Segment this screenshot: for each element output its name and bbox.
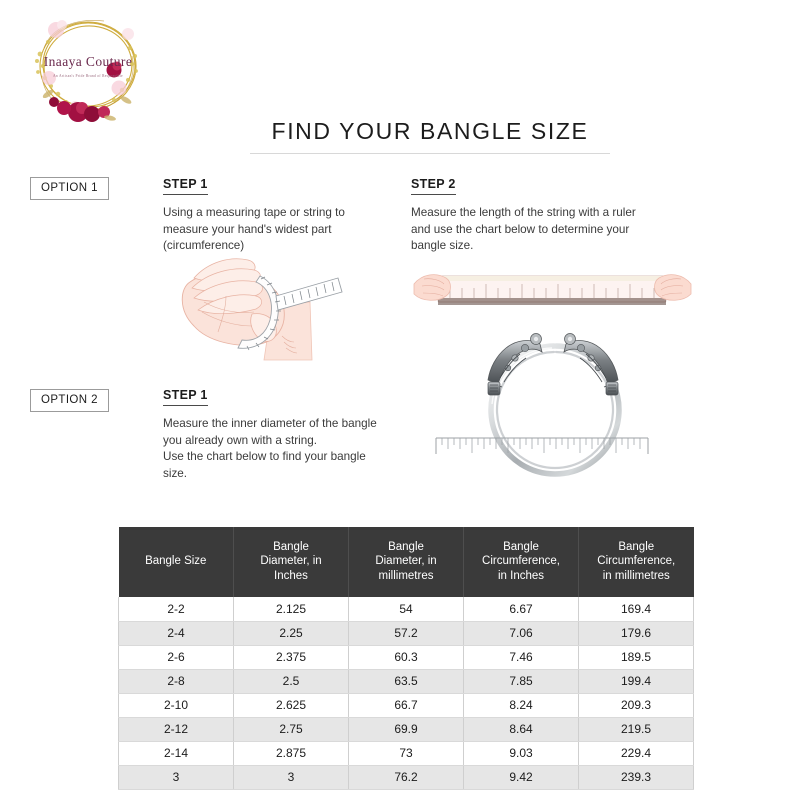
table-cell: 8.64 — [464, 717, 579, 741]
table-cell: 73 — [349, 741, 464, 765]
bangle-size-cell: 2-10 — [119, 693, 234, 717]
table-cell: 2.875 — [234, 741, 349, 765]
option-1-step-2: STEP 2 Measure the length of the string … — [411, 175, 676, 255]
table-cell: 2.375 — [234, 645, 349, 669]
bangle-terminal-left — [488, 334, 542, 396]
table-row: 2-102.62566.78.24209.3 — [119, 693, 694, 717]
hands-holding-ruler-illustration — [410, 248, 695, 333]
table-cell: 6.67 — [464, 597, 579, 621]
table-cell: 3 — [234, 765, 349, 789]
bangle-size-cell: 3 — [119, 765, 234, 789]
table-cell: 9.42 — [464, 765, 579, 789]
table-cell: 9.03 — [464, 741, 579, 765]
bangle-size-cell: 2-14 — [119, 741, 234, 765]
table-cell: 66.7 — [349, 693, 464, 717]
page-title: FIND YOUR BANGLE SIZE — [250, 118, 610, 145]
table-cell: 69.9 — [349, 717, 464, 741]
option-2-tag: OPTION 2 — [30, 389, 109, 412]
bangle-size-chart: Bangle SizeBangle Diameter, in InchesBan… — [118, 527, 694, 790]
option-1-step-1-title: STEP 1 — [163, 177, 208, 195]
table-cell: 2.625 — [234, 693, 349, 717]
size-table: Bangle SizeBangle Diameter, in InchesBan… — [118, 527, 694, 790]
table-cell: 169.4 — [579, 597, 694, 621]
table-row: 2-22.125546.67169.4 — [119, 597, 694, 621]
table-cell: 7.85 — [464, 669, 579, 693]
table-cell: 219.5 — [579, 717, 694, 741]
bangle-size-cell: 2-8 — [119, 669, 234, 693]
table-cell: 189.5 — [579, 645, 694, 669]
page-header: FIND YOUR BANGLE SIZE — [250, 118, 610, 154]
table-column-header-4: Bangle Circumference, in millimetres — [579, 527, 694, 597]
option-1-tag: OPTION 1 — [30, 177, 109, 200]
table-cell: 76.2 — [349, 765, 464, 789]
table-cell: 57.2 — [349, 621, 464, 645]
option-2-step-1-title: STEP 1 — [163, 388, 208, 406]
table-row: 2-42.2557.27.06179.6 — [119, 621, 694, 645]
table-cell: 199.4 — [579, 669, 694, 693]
option-2-step-1: STEP 1 Measure the inner diameter of the… — [163, 386, 413, 482]
option-1-step-2-title: STEP 2 — [411, 177, 456, 195]
table-row: 2-142.875739.03229.4 — [119, 741, 694, 765]
table-cell: 2.125 — [234, 597, 349, 621]
table-cell: 209.3 — [579, 693, 694, 717]
table-row: 2-82.563.57.85199.4 — [119, 669, 694, 693]
table-row: 2-62.37560.37.46189.5 — [119, 645, 694, 669]
bangle-size-cell: 2-2 — [119, 597, 234, 621]
table-cell: 2.25 — [234, 621, 349, 645]
table-cell: 60.3 — [349, 645, 464, 669]
table-cell: 7.46 — [464, 645, 579, 669]
silver-bangle-with-ruler-illustration — [420, 332, 685, 517]
table-column-header-1: Bangle Diameter, in Inches — [234, 527, 349, 597]
table-header-row: Bangle SizeBangle Diameter, in InchesBan… — [119, 527, 694, 597]
bangle-size-cell: 2-4 — [119, 621, 234, 645]
table-column-header-3: Bangle Circumference, in Inches — [464, 527, 579, 597]
table-column-header-2: Bangle Diameter, in millimetres — [349, 527, 464, 597]
brand-logo: Inaaya Couture An Artisan's Pride Brand … — [18, 8, 158, 128]
table-cell: 54 — [349, 597, 464, 621]
brand-tagline-text: An Artisan's Pride Brand of Responsible — [53, 74, 123, 78]
table-header: Bangle SizeBangle Diameter, in InchesBan… — [119, 527, 694, 597]
bangle-size-cell: 2-6 — [119, 645, 234, 669]
table-row: 2-122.7569.98.64219.5 — [119, 717, 694, 741]
table-cell: 7.06 — [464, 621, 579, 645]
option-2-step-1-body: Measure the inner diameter of the bangle… — [163, 416, 413, 482]
bangle-size-cell: 2-12 — [119, 717, 234, 741]
table-body: 2-22.125546.67169.42-42.2557.27.06179.62… — [119, 597, 694, 789]
table-cell: 63.5 — [349, 669, 464, 693]
option-1-step-1: STEP 1 Using a measuring tape or string … — [163, 175, 378, 255]
hand-with-measuring-tape-illustration — [160, 248, 365, 373]
table-cell: 2.5 — [234, 669, 349, 693]
table-row: 3376.29.42239.3 — [119, 765, 694, 789]
table-cell: 8.24 — [464, 693, 579, 717]
bangle-size-guide-page: Inaaya Couture An Artisan's Pride Brand … — [0, 0, 794, 794]
table-column-header-0: Bangle Size — [119, 527, 234, 597]
brand-name-text: Inaaya Couture — [44, 54, 132, 69]
table-cell: 179.6 — [579, 621, 694, 645]
table-cell: 2.75 — [234, 717, 349, 741]
diameter-ruler-scale — [436, 438, 648, 454]
table-cell: 229.4 — [579, 741, 694, 765]
title-divider — [250, 153, 610, 154]
table-cell: 239.3 — [579, 765, 694, 789]
floral-wreath-logo: Inaaya Couture An Artisan's Pride Brand … — [18, 8, 158, 128]
